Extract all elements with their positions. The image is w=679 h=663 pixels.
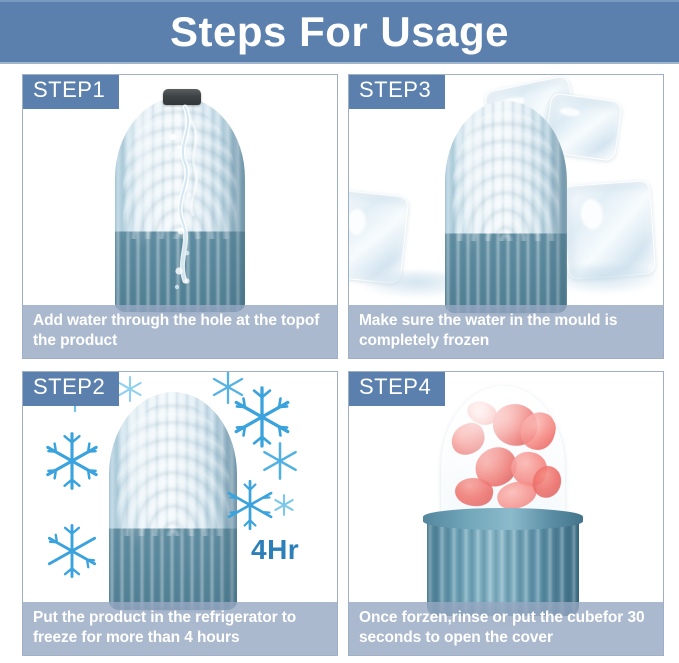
product-highlight — [455, 107, 487, 255]
product-highlight — [119, 399, 152, 552]
snowflake-icon — [115, 374, 145, 404]
step-caption-step4: Once forzen,rinse or put the cubefor 30 … — [349, 602, 663, 655]
product-body — [109, 392, 237, 610]
step-tag-step2: STEP2 — [22, 371, 119, 406]
usage-steps-infographic: Steps For Usage — [0, 0, 679, 663]
product-body — [445, 101, 567, 313]
snowflake-icon — [41, 430, 103, 492]
product-holder-base — [427, 518, 579, 616]
step-caption-step1: Add water through the hole at the topof … — [23, 305, 337, 358]
product-cap — [163, 89, 201, 105]
step-panel-step3: STEP3 Make sure the water in the mould i… — [348, 74, 664, 359]
step-caption-step3: Make sure the water in the mould is comp… — [349, 305, 663, 358]
step-tag-step3: STEP3 — [348, 74, 445, 109]
step-tag-step1: STEP1 — [22, 74, 119, 109]
frozen-petal-ice-cube — [441, 386, 565, 518]
step-panel-step2: 4Hr STEP2 Put the product in the refrige… — [22, 371, 338, 656]
product-side-shadow — [222, 97, 245, 312]
page-title: Steps For Usage — [170, 11, 509, 53]
product-body — [115, 97, 245, 312]
holder-lip — [423, 508, 583, 530]
snowflake-icon — [43, 522, 101, 580]
snowflake-icon — [223, 478, 277, 532]
step-panel-step1: STEP1 Add water through the hole at the … — [22, 74, 338, 359]
ice-frost-overlay — [441, 386, 565, 518]
header-banner: Steps For Usage — [0, 0, 679, 64]
product-mould — [445, 101, 567, 313]
ice-cube — [349, 189, 409, 284]
step-panel-step4: STEP4 Once forzen,rinse or put the cubef… — [348, 371, 664, 656]
step-caption-step2: Put the product in the refrigerator to f… — [23, 602, 337, 655]
product-side-shadow — [545, 101, 567, 313]
timer-label: 4Hr — [251, 534, 299, 566]
product-mould — [109, 392, 237, 610]
product-bottle — [115, 97, 245, 312]
steps-grid: STEP1 Add water through the hole at the … — [0, 64, 679, 663]
snowflake-icon — [259, 440, 301, 482]
snowflake-icon — [271, 492, 297, 518]
product-highlight — [125, 103, 159, 254]
step-tag-step4: STEP4 — [348, 371, 445, 406]
